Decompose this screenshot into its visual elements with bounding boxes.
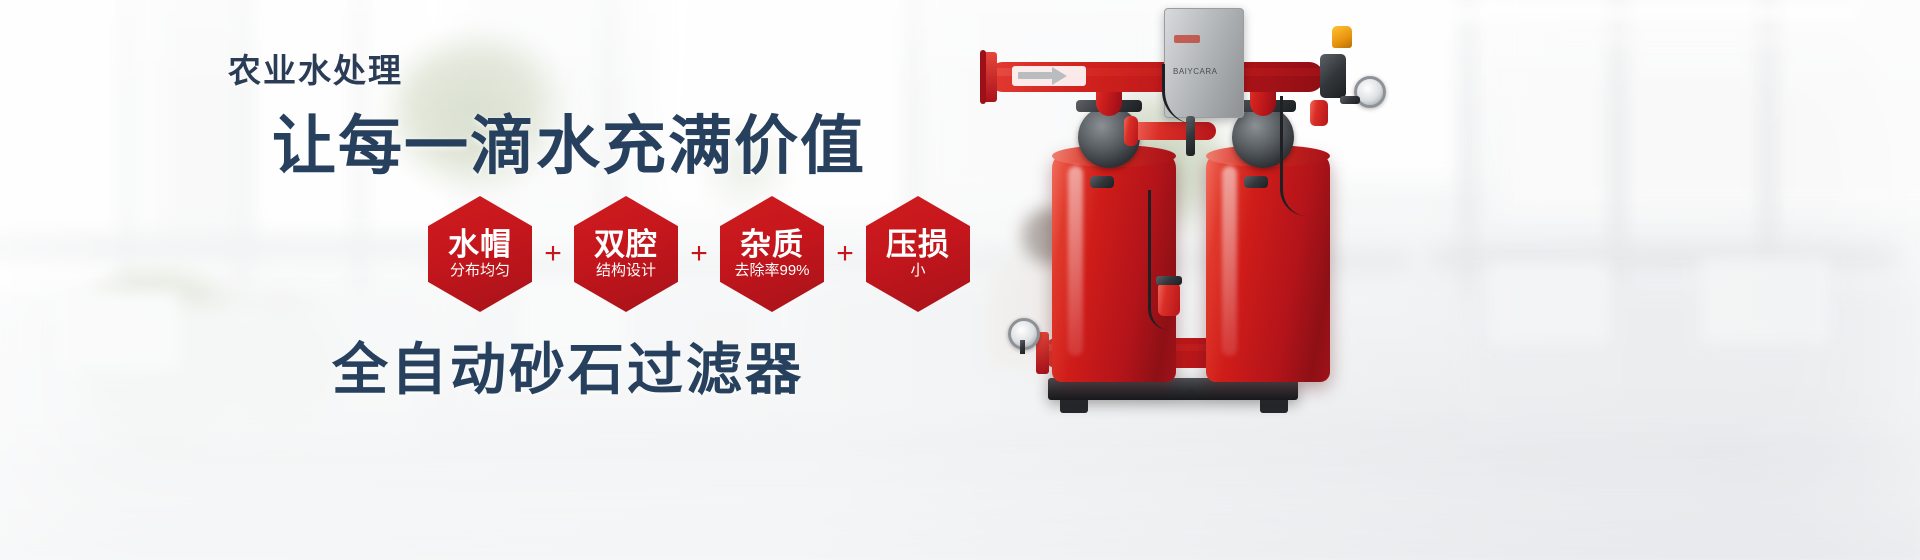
tank-port-left bbox=[1090, 176, 1114, 188]
side-valve-body bbox=[1320, 54, 1346, 98]
cross-branch-pipe bbox=[1130, 122, 1216, 140]
controller-brand-icon bbox=[1174, 35, 1200, 43]
feature-badge-water-cap[interactable]: 水帽 分布均匀 bbox=[428, 196, 532, 312]
badge-title: 杂质 bbox=[740, 229, 804, 261]
tank-port-right bbox=[1244, 176, 1268, 188]
filter-tank-right bbox=[1206, 152, 1330, 382]
badge-title: 水帽 bbox=[448, 229, 512, 261]
plus-separator-icon: + bbox=[532, 239, 574, 269]
feature-badge-pressure-loss[interactable]: 压损 小 bbox=[866, 196, 970, 312]
badge-subtitle: 去除率99% bbox=[734, 263, 809, 279]
banner-headline: 让每一滴水充满价值 bbox=[272, 95, 866, 187]
product-image-sand-filter: BAIYCARA bbox=[980, 0, 1480, 560]
feature-badge-impurity[interactable]: 杂质 去除率99% bbox=[720, 196, 824, 312]
flow-arrow-icon bbox=[1052, 67, 1067, 85]
banner-subheadline: 全自动砂石过滤器 bbox=[332, 325, 804, 406]
banner-eyebrow: 农业水处理 bbox=[228, 44, 403, 92]
badge-subtitle: 分布均匀 bbox=[450, 263, 510, 279]
plus-separator-icon: + bbox=[824, 239, 866, 269]
hero-banner: 农业水处理 让每一滴水充满价值 全自动砂石过滤器 水帽 分布均匀 + 双腔 结构… bbox=[0, 0, 1920, 560]
badge-title: 双腔 bbox=[594, 229, 658, 261]
feature-badge-dual-chamber[interactable]: 双腔 结构设计 bbox=[574, 196, 678, 312]
badge-title: 压损 bbox=[886, 229, 950, 261]
badge-subtitle: 结构设计 bbox=[596, 263, 656, 279]
plus-separator-icon: + bbox=[678, 239, 720, 269]
feature-badge-group: 水帽 分布均匀 + 双腔 结构设计 + 杂质 去除率99% + 压损 小 bbox=[428, 196, 970, 312]
yellow-relief-cap-icon bbox=[1332, 26, 1352, 48]
badge-subtitle: 小 bbox=[910, 263, 925, 279]
